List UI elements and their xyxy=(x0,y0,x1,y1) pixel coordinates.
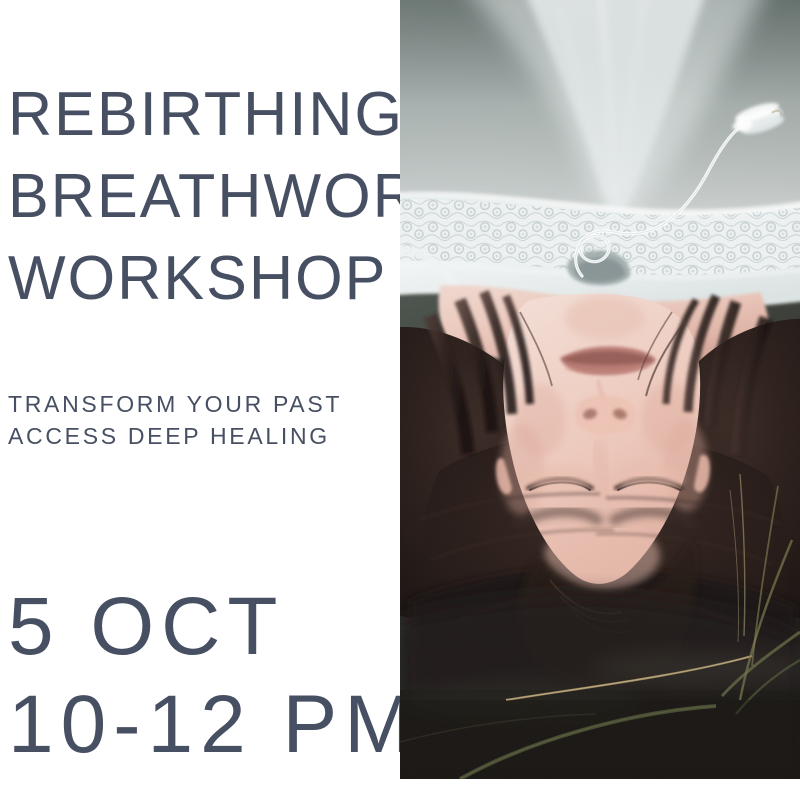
headline: REBIRTHING BREATHWORK WORKSHOP xyxy=(8,72,408,318)
subheading-line-1: TRANSFORM YOUR PAST xyxy=(8,388,408,420)
photo-bottom-margin xyxy=(400,779,800,800)
poster-canvas: REBIRTHING BREATHWORK WORKSHOP TRANSFORM… xyxy=(0,0,800,800)
text-panel: REBIRTHING BREATHWORK WORKSHOP TRANSFORM… xyxy=(0,0,400,800)
event-time: 10-12 PM xyxy=(8,676,408,774)
headline-line-1: REBIRTHING xyxy=(8,72,408,156)
event-date: 5 OCT xyxy=(8,578,408,676)
subheading: TRANSFORM YOUR PAST ACCESS DEEP HEALING xyxy=(8,388,408,452)
date-block: 5 OCT 10-12 PM xyxy=(8,578,408,774)
headline-line-2: BREATHWORK xyxy=(8,154,408,238)
woman-floating-in-water-photo xyxy=(400,0,800,779)
subheading-line-2: ACCESS DEEP HEALING xyxy=(8,420,408,452)
headline-line-3: WORKSHOP xyxy=(8,236,408,320)
